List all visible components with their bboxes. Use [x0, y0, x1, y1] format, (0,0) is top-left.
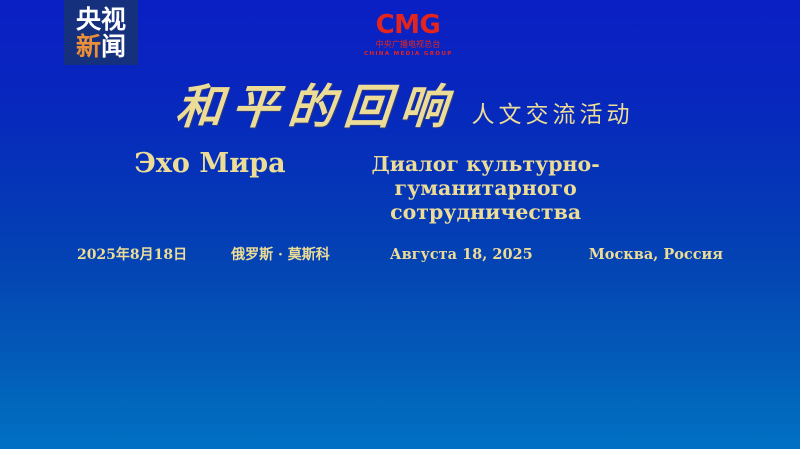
cctv-logo-line-2: 新 闻 — [76, 34, 126, 59]
event-meta-row: 2025年8月18日 俄罗斯 · 莫斯科 Августа 18, 2025 Мо… — [0, 248, 800, 263]
cmg-wordmark: CMG — [364, 12, 452, 38]
event-date-russian: Августа 18, 2025 — [390, 248, 533, 263]
event-place-chinese: 俄罗斯 · 莫斯科 — [231, 248, 330, 262]
event-place-russian: Москва, Россия — [589, 248, 723, 263]
headline-russian: Эхо Мира — [134, 148, 285, 180]
event-title-card: 央 视 新 闻 CMG 中央广播电视总台 CHINA MEDIA GROUP 和… — [0, 0, 800, 449]
cctv-logo-line-1: 央 视 — [76, 7, 126, 32]
subheadline-chinese: 人文交流活动 — [470, 104, 634, 131]
subheadline-russian-line-1: Диалог культурно-гуманитарного — [372, 152, 600, 200]
russian-title-row: Эхо Мира Диалог культурно-гуманитарного … — [0, 148, 800, 225]
cctv-logo-char-xin: 新 — [76, 34, 101, 59]
cmg-logo: CMG 中央广播电视总台 CHINA MEDIA GROUP — [364, 12, 452, 57]
subheadline-russian: Диалог культурно-гуманитарного сотруднич… — [306, 148, 666, 225]
cmg-english-name: CHINA MEDIA GROUP — [364, 52, 452, 58]
cctv-logo-char-shi: 视 — [101, 7, 126, 32]
cctv-logo-char-yang: 央 — [76, 7, 101, 32]
subheadline-russian-line-2: сотрудничества — [306, 200, 666, 224]
title-block: 和平的回响 人文交流活动 Эхо Мира Диалог культурно-г… — [0, 84, 800, 225]
headline-row: 和平的回响 人文交流活动 — [0, 84, 800, 131]
cctv-news-logo: 央 视 新 闻 — [64, 0, 138, 65]
event-date-chinese: 2025年8月18日 — [77, 248, 187, 262]
headline-chinese: 和平的回响 — [164, 84, 457, 131]
cctv-logo-char-wen: 闻 — [101, 34, 126, 59]
cmg-chinese-name: 中央广播电视总台 — [366, 41, 450, 50]
